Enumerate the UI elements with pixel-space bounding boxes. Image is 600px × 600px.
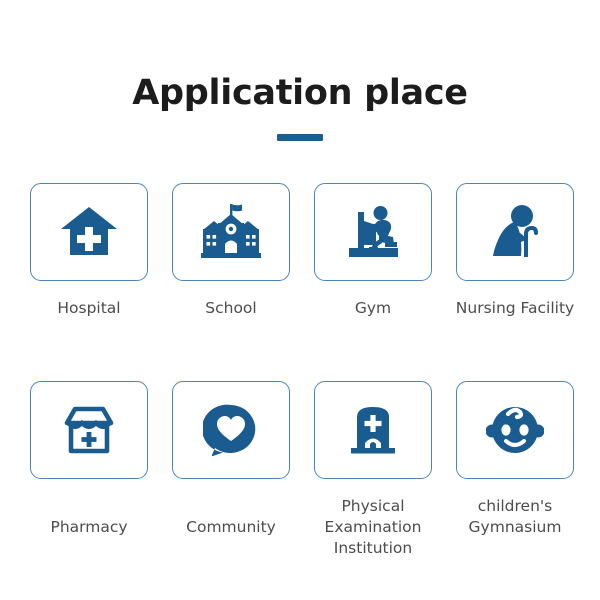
application-place-grid: Hospital (30, 183, 574, 559)
grid-item-hospital[interactable]: Hospital (30, 183, 148, 319)
grid-item-label: Community (186, 517, 276, 538)
icon-card-community[interactable] (172, 381, 290, 479)
header: Application place (0, 72, 600, 141)
grid-item-label: Pharmacy (50, 517, 127, 538)
baby-face-icon (486, 404, 544, 456)
grid-item-physical-examination-institution[interactable]: Physical Examination Institution (314, 381, 432, 559)
icon-card-physical-examination-institution[interactable] (314, 381, 432, 479)
grid-item-childrens-gymnasium[interactable]: children's Gymnasium (456, 381, 574, 538)
grid-item-pharmacy[interactable]: Pharmacy (30, 381, 148, 538)
grid-item-label: Physical Examination Institution (325, 496, 422, 559)
grid-row-1: Hospital (30, 183, 574, 319)
page-title: Application place (0, 72, 600, 114)
grid-item-community[interactable]: Community (172, 381, 290, 538)
title-underline-accent (277, 134, 323, 141)
gym-exercise-machine-icon (343, 204, 403, 260)
icon-card-gym[interactable] (314, 183, 432, 281)
icon-card-childrens-gymnasium[interactable] (456, 381, 574, 479)
grid-item-label: Hospital (57, 298, 120, 319)
grid-item-label: School (205, 298, 256, 319)
grid-item-label: children's Gymnasium (469, 496, 562, 538)
grid-item-nursing-facility[interactable]: Nursing Facility (456, 183, 574, 319)
hospital-house-cross-icon (60, 205, 118, 259)
clinic-building-cross-icon (345, 403, 401, 457)
application-place-infographic: Application place Hospital (0, 0, 600, 600)
speech-bubble-heart-icon (203, 403, 259, 457)
grid-item-school[interactable]: School (172, 183, 290, 319)
school-building-flag-icon (200, 204, 262, 260)
icon-card-hospital[interactable] (30, 183, 148, 281)
elderly-person-cane-icon (487, 204, 543, 260)
grid-item-gym[interactable]: Gym (314, 183, 432, 319)
grid-item-label: Gym (355, 298, 391, 319)
grid-row-2: Pharmacy Community (30, 381, 574, 559)
icon-card-nursing-facility[interactable] (456, 183, 574, 281)
grid-item-label: Nursing Facility (456, 298, 574, 319)
pharmacy-shop-cross-icon (58, 403, 120, 457)
icon-card-pharmacy[interactable] (30, 381, 148, 479)
icon-card-school[interactable] (172, 183, 290, 281)
